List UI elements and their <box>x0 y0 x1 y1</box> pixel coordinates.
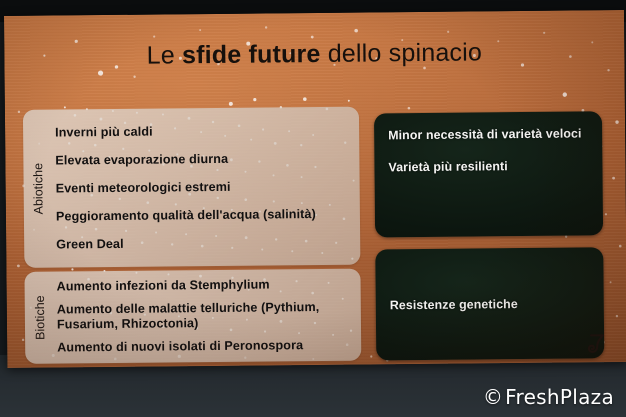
panel-resistenze-list: Resistenze genetiche <box>375 247 604 360</box>
list-item: Resistenze genetiche <box>390 296 518 313</box>
list-item: Inverni più caldi <box>55 122 351 140</box>
panel-abiotiche-label-text: Abiotiche <box>31 163 45 215</box>
panel-abiotiche-list: Inverni più caldi Elevata evaporazione d… <box>55 107 353 268</box>
panel-varieta: Minor necessità di varietà veloci Variet… <box>374 111 603 237</box>
list-item: Aumento di nuovi isolati di Peronospora <box>57 338 353 356</box>
list-item: Green Deal <box>56 234 352 252</box>
panel-varieta-list: Minor necessità di varietà veloci Variet… <box>374 111 603 237</box>
title-emphasis: sfide future <box>182 40 321 69</box>
panel-abiotiche-side-label: Abiotiche <box>25 110 53 268</box>
photo-of-projected-slide: Le sfide future dello spinacio Abiotiche… <box>0 0 626 417</box>
panel-biotiche-list: Aumento infezioni da Stemphylium Aumento… <box>56 269 353 364</box>
freshplaza-watermark: © FreshPlaza <box>483 385 614 409</box>
list-item: Aumento delle malattie telluriche (Pythi… <box>57 300 353 333</box>
list-item: Varietà più resilienti <box>388 157 588 175</box>
panel-biotiche-side-label: Biotiche <box>26 272 53 364</box>
title-prefix: Le <box>147 41 183 69</box>
panel-abiotiche: Abiotiche Inverni più caldi Elevata evap… <box>23 107 361 268</box>
title-suffix: dello spinacio <box>320 38 482 68</box>
list-item: Elevata evaporazione diurna <box>55 150 351 168</box>
panel-resistenze: Resistenze genetiche <box>375 247 604 360</box>
list-item: Aumento infezioni da Stemphylium <box>57 277 353 295</box>
watermark-text: FreshPlaza <box>505 385 614 409</box>
panel-biotiche: Biotiche Aumento infezioni da Stemphyliu… <box>24 269 361 364</box>
projection-screen: Le sfide future dello spinacio Abiotiche… <box>4 10 626 368</box>
list-item: Peggioramento qualità dell'acqua (salini… <box>56 206 352 224</box>
seedling-spiral-logo-icon <box>585 330 611 356</box>
slide-title: Le sfide future dello spinacio <box>4 36 624 72</box>
list-item: Eventi meteorologici estremi <box>56 178 352 196</box>
panel-biotiche-label-text: Biotiche <box>33 295 47 340</box>
list-item: Minor necessità di varietà veloci <box>388 125 588 143</box>
copyright-icon: © <box>483 385 503 409</box>
